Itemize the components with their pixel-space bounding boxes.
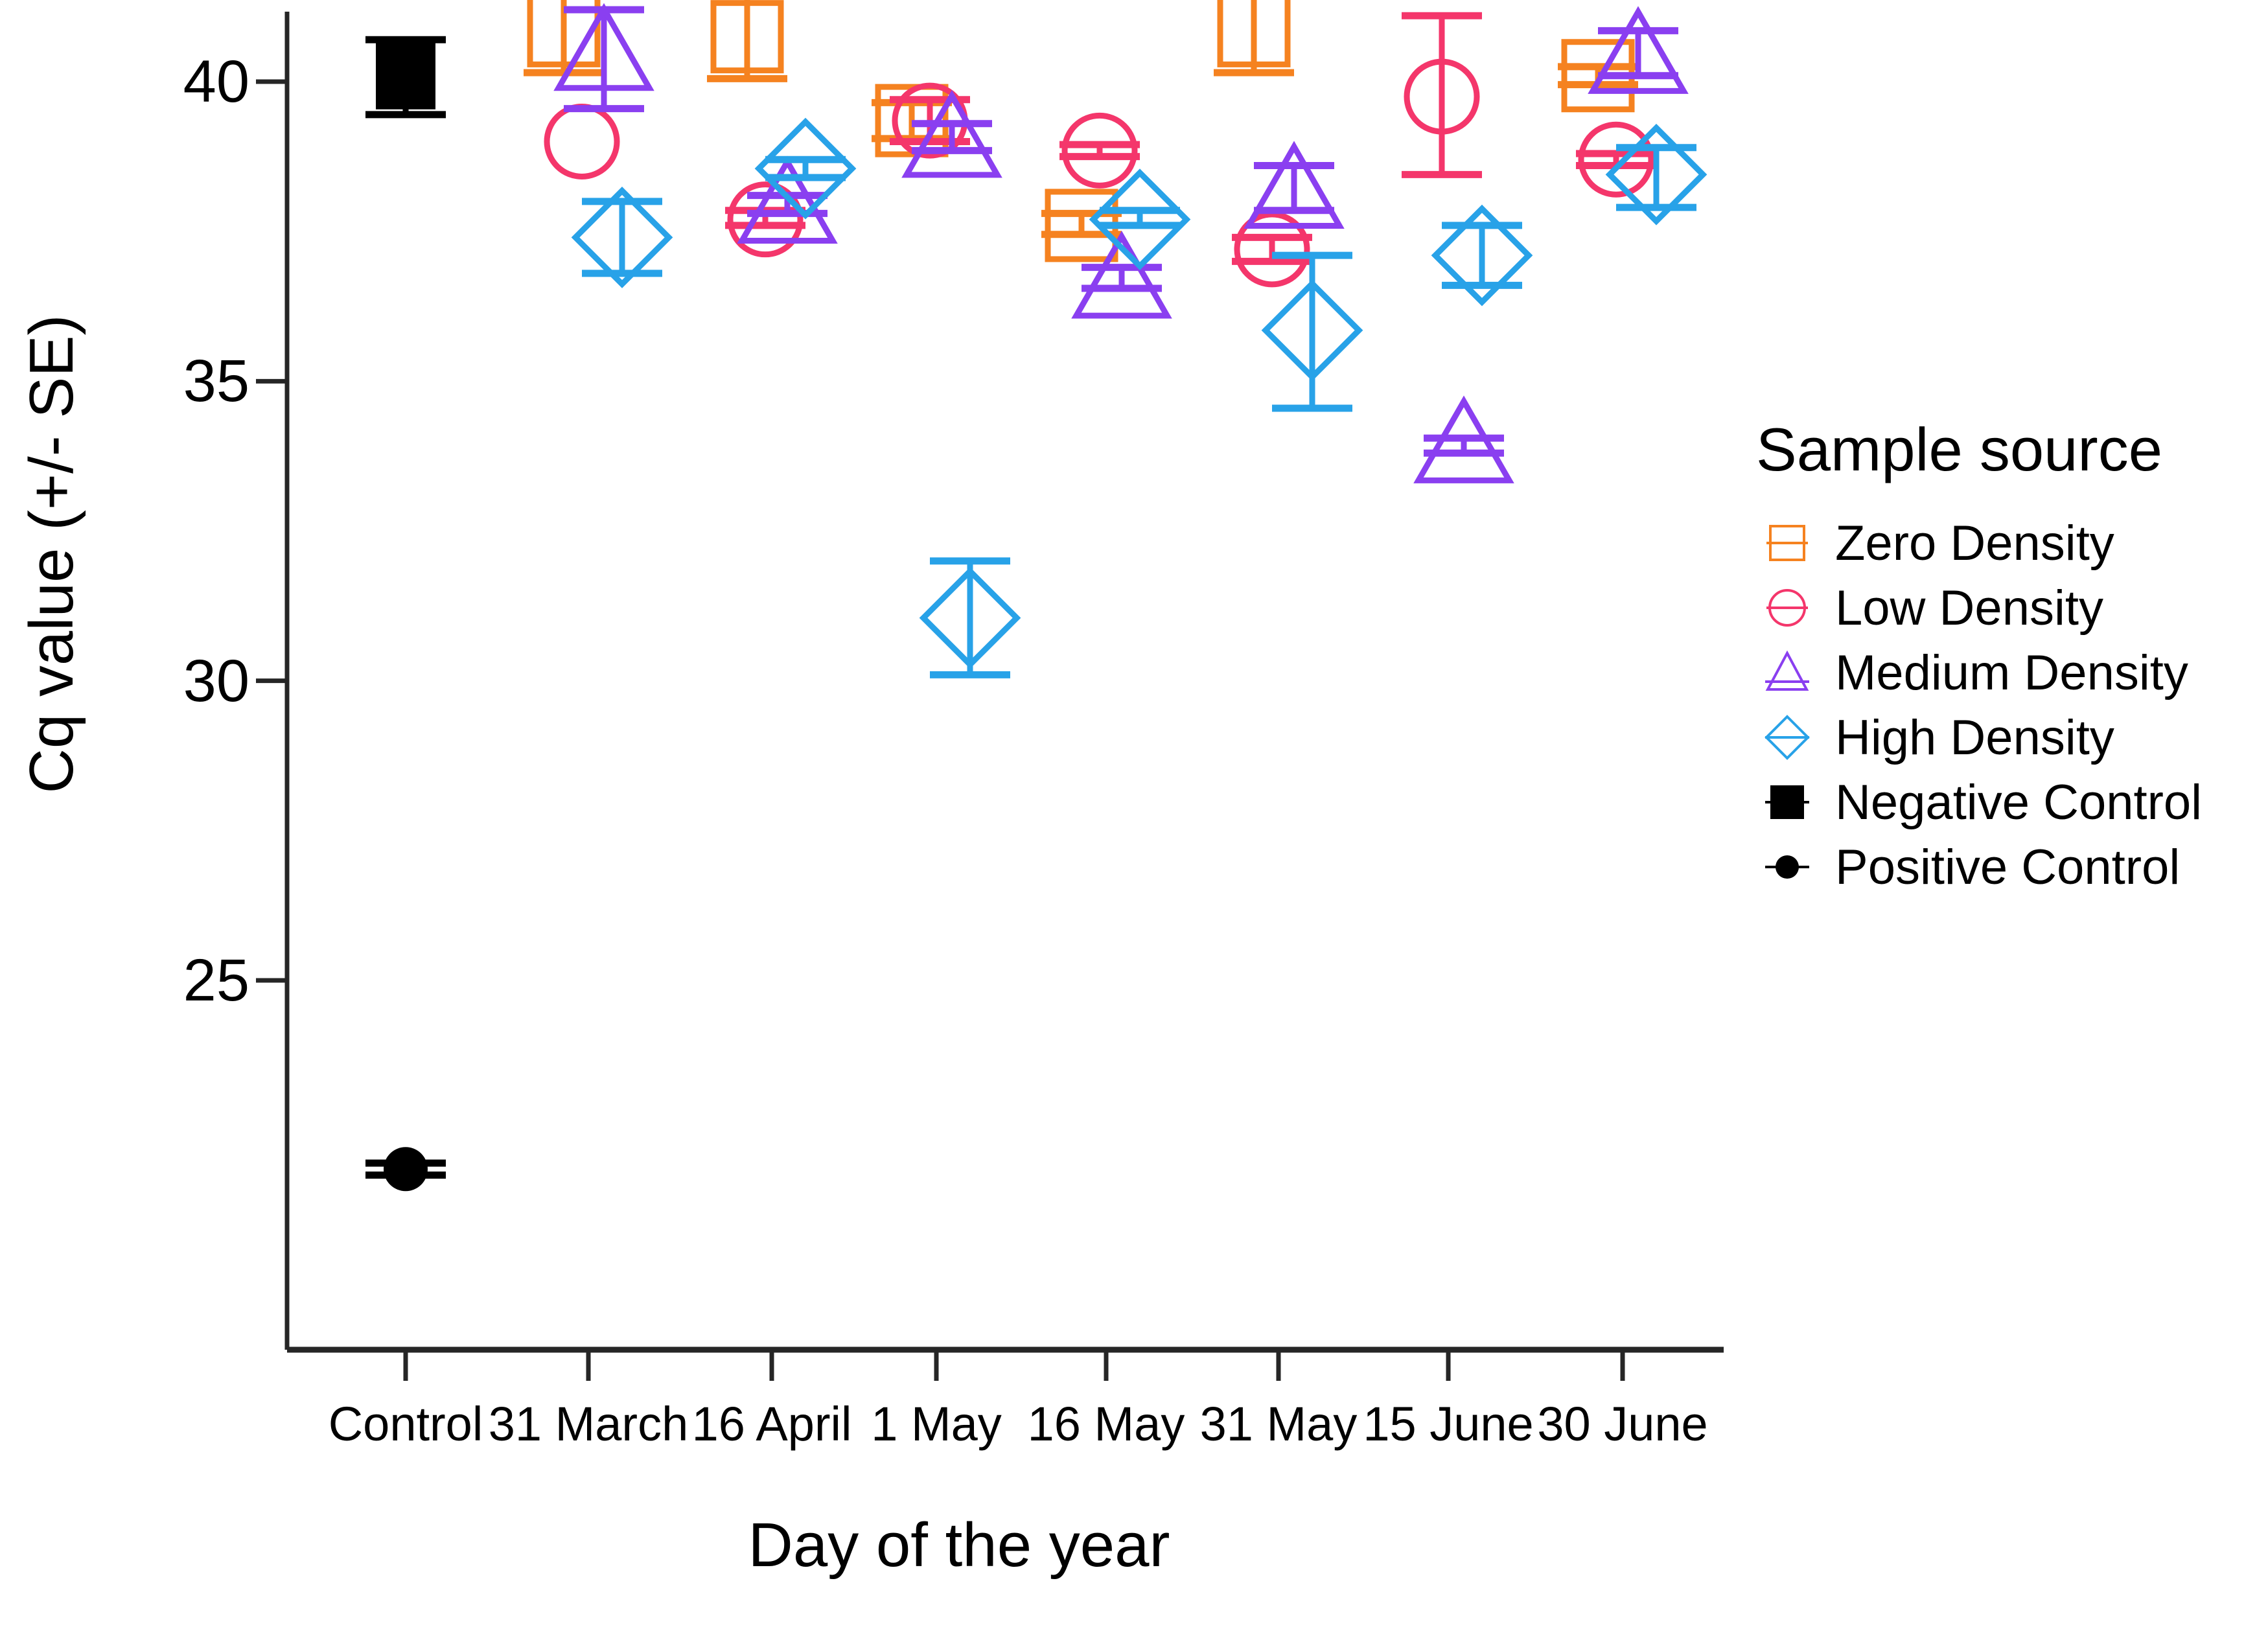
- legend-item-low-density[interactable]: Low Density: [1756, 575, 2268, 640]
- marker-circle-open: [547, 106, 617, 176]
- legend-item-label: High Density: [1835, 710, 2114, 766]
- data-point: [575, 191, 669, 284]
- circle-filled-icon: [1756, 836, 1818, 898]
- data-point: [1435, 209, 1529, 302]
- data-point: [547, 106, 617, 176]
- data-point: [1402, 16, 1482, 174]
- data-point: [1249, 146, 1339, 225]
- y-tick-label: 30: [81, 647, 249, 715]
- y-tick-label: 25: [81, 947, 249, 1015]
- legend-item-medium-density[interactable]: Medium Density: [1756, 640, 2268, 705]
- data-point: [759, 122, 852, 215]
- square-open-icon: [1756, 512, 1818, 574]
- y-tick-label: 40: [81, 48, 249, 116]
- legend-title: Sample source: [1756, 415, 2268, 485]
- legend-item-label: Low Density: [1835, 580, 2103, 636]
- legend-item-negative-control[interactable]: Negative Control: [1756, 770, 2268, 835]
- data-point: [1418, 401, 1509, 480]
- diamond-open-icon: [1756, 706, 1818, 768]
- data-point: [365, 40, 446, 115]
- legend-item-label: Positive Control: [1835, 839, 2180, 895]
- legend-item-label: Negative Control: [1835, 774, 2202, 831]
- data-point: [559, 9, 649, 109]
- marker-circle-filled: [384, 1147, 428, 1191]
- legend: Sample source Zero DensityLow DensityMed…: [1756, 415, 2268, 899]
- circle-open-icon: [1756, 577, 1818, 639]
- legend-item-label: Zero Density: [1835, 515, 2114, 572]
- y-tick-label: 35: [81, 347, 249, 415]
- data-point: [365, 1147, 446, 1191]
- legend-item-high-density[interactable]: High Density: [1756, 705, 2268, 770]
- marker-square-filled: [376, 42, 435, 110]
- chart-figure: Cq value (+/- SE) Day of the year 403530…: [0, 0, 2268, 1629]
- data-point: [1266, 255, 1359, 408]
- legend-item-positive-control[interactable]: Positive Control: [1756, 835, 2268, 899]
- data-point: [1610, 128, 1703, 221]
- x-tick-label: 30 June: [1480, 1396, 1765, 1451]
- data-point: [1593, 12, 1684, 91]
- legend-item-label: Medium Density: [1835, 645, 2188, 701]
- data-point: [1059, 115, 1140, 185]
- data-point: [1214, 0, 1294, 73]
- square-filled-icon: [1756, 771, 1818, 833]
- data-point: [707, 0, 787, 78]
- triangle-open-icon: [1756, 641, 1818, 704]
- legend-item-zero-density[interactable]: Zero Density: [1756, 511, 2268, 575]
- data-point: [923, 561, 1017, 675]
